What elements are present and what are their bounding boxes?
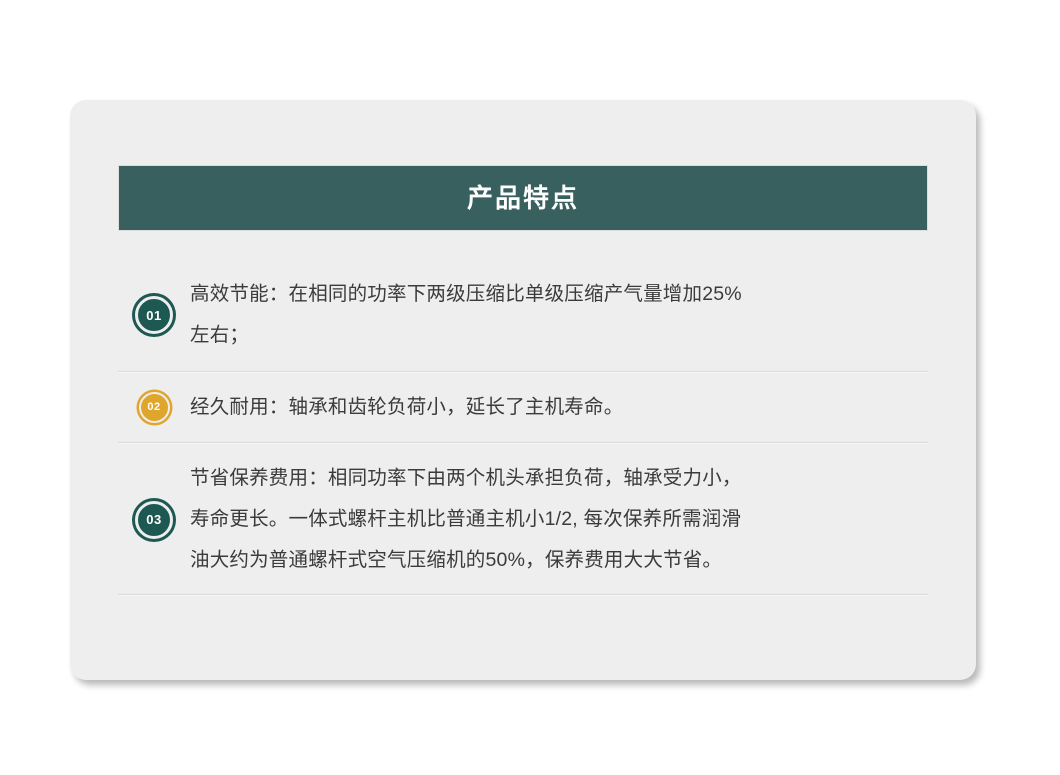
badge-cell-01: 01: [118, 296, 190, 334]
product-features-card: 产品特点 01 高效节能：在相同的功率下两级压缩比单级压缩产气量增加25% 左右…: [70, 100, 976, 680]
feature-text-line: 油大约为普通螺杆式空气压缩机的50%，保养费用大大节省。: [190, 540, 924, 581]
feature-text-line: 高效节能：在相同的功率下两级压缩比单级压缩产气量增加25%: [190, 274, 924, 315]
number-badge-03: 03: [135, 501, 173, 539]
number-badge-01: 01: [135, 296, 173, 334]
feature-text-line: 节省保养费用：相同功率下由两个机头承担负荷，轴承受力小，: [190, 458, 924, 499]
badge-number-label: 01: [146, 309, 161, 322]
badge-cell-02: 02: [118, 392, 190, 423]
feature-text-line: 左右；: [190, 315, 924, 356]
feature-item-02: 02 经久耐用：轴承和齿轮负荷小，延长了主机寿命。: [118, 372, 928, 443]
page-canvas: 产品特点 01 高效节能：在相同的功率下两级压缩比单级压缩产气量增加25% 左右…: [0, 0, 1060, 775]
feature-text-02: 经久耐用：轴承和齿轮负荷小，延长了主机寿命。: [190, 387, 928, 428]
feature-text-03: 节省保养费用：相同功率下由两个机头承担负荷，轴承受力小， 寿命更长。一体式螺杆主…: [190, 458, 928, 581]
badge-number-label: 03: [146, 513, 161, 526]
feature-list: 01 高效节能：在相同的功率下两级压缩比单级压缩产气量增加25% 左右； 02 …: [118, 260, 928, 595]
badge-cell-03: 03: [118, 501, 190, 539]
badge-number-label: 02: [147, 402, 160, 413]
feature-item-01: 01 高效节能：在相同的功率下两级压缩比单级压缩产气量增加25% 左右；: [118, 260, 928, 372]
feature-text-01: 高效节能：在相同的功率下两级压缩比单级压缩产气量增加25% 左右；: [190, 274, 928, 356]
feature-text-line: 经久耐用：轴承和齿轮负荷小，延长了主机寿命。: [190, 387, 924, 428]
number-badge-02: 02: [139, 392, 170, 423]
feature-item-03: 03 节省保养费用：相同功率下由两个机头承担负荷，轴承受力小， 寿命更长。一体式…: [118, 443, 928, 595]
card-header-banner: 产品特点: [118, 165, 928, 231]
page-title: 产品特点: [467, 185, 579, 211]
feature-text-line: 寿命更长。一体式螺杆主机比普通主机小1/2, 每次保养所需润滑: [190, 499, 924, 540]
